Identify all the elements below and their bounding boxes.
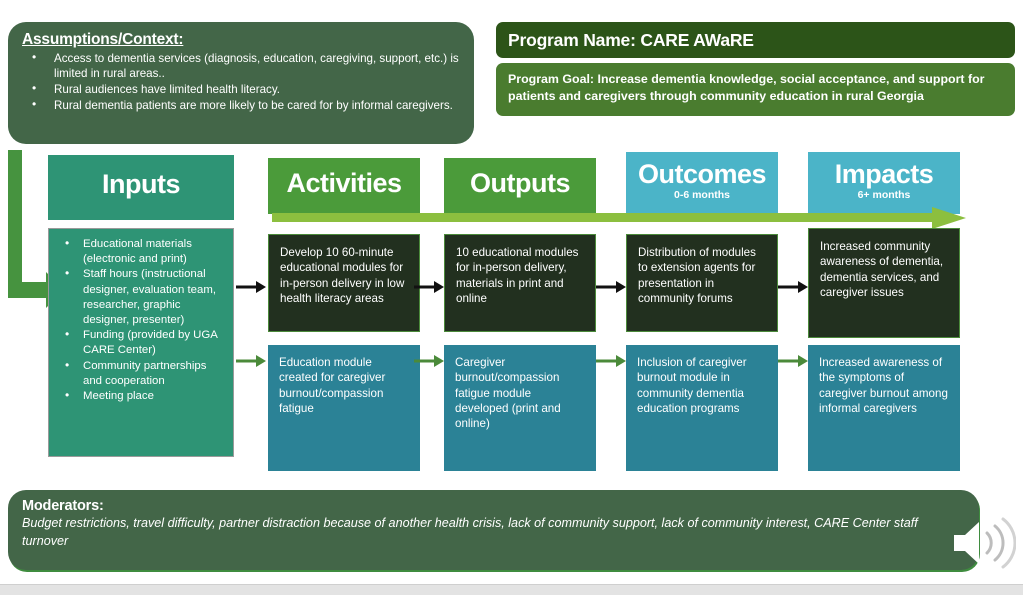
column-header-outputs: Outputs: [444, 158, 596, 214]
list-item: Access to dementia services (diagnosis, …: [22, 51, 460, 82]
outcomes-main-cell: Distribution of modules to extension age…: [626, 234, 778, 332]
connector-arrow-icon: [778, 353, 808, 369]
connector-arrow-icon: [414, 279, 444, 295]
list-item: Educational materials (electronic and pr…: [57, 237, 225, 267]
list-item: Rural audiences have limited health lite…: [22, 82, 460, 97]
assumptions-title: Assumptions/Context:: [22, 31, 460, 49]
outputs-caregiver-cell: Caregiver burnout/compassion fatigue mod…: [444, 345, 596, 471]
column-header-activities: Activities: [268, 158, 420, 214]
outputs-main-cell: 10 educational modules for in-person del…: [444, 234, 596, 332]
bottom-strip: [0, 584, 1023, 595]
speaker-audio-icon[interactable]: [950, 515, 1016, 571]
column-title: Impacts: [808, 159, 960, 189]
moderators-panel: Moderators: Budget restrictions, travel …: [8, 490, 979, 570]
impacts-caregiver-cell: Increased awareness of the symptoms of c…: [808, 345, 960, 471]
moderators-title: Moderators:: [22, 498, 919, 514]
connector-arrow-icon: [236, 353, 266, 369]
connector-arrow-icon: [596, 353, 626, 369]
column-title: Inputs: [48, 169, 234, 199]
activities-caregiver-cell: Education module created for caregiver b…: [268, 345, 420, 471]
list-item: Community partnerships and cooperation: [57, 359, 225, 389]
column-subtitle: 0-6 months: [626, 189, 778, 201]
column-header-inputs: Inputs: [48, 155, 234, 220]
column-title: Outcomes: [626, 159, 778, 189]
assumptions-list: Access to dementia services (diagnosis, …: [22, 51, 460, 114]
moderators-text: Budget restrictions, travel difficulty, …: [22, 515, 919, 550]
column-title: Outputs: [444, 168, 596, 198]
outcomes-caregiver-cell: Inclusion of caregiver burnout module in…: [626, 345, 778, 471]
column-header-outcomes: Outcomes 0-6 months: [626, 152, 778, 214]
column-title: Activities: [268, 168, 420, 198]
list-item: Funding (provided by UGA CARE Center): [57, 328, 225, 358]
connector-arrow-icon: [414, 353, 444, 369]
impacts-main-cell: Increased community awareness of dementi…: [808, 228, 960, 338]
logic-model-slide: Assumptions/Context: Access to dementia …: [0, 0, 1023, 595]
connector-arrow-icon: [596, 279, 626, 295]
list-item: Staff hours (instructional designer, eva…: [57, 267, 225, 328]
right-arrow-icon: [272, 207, 966, 229]
program-goal-banner: Program Goal: Increase dementia knowledg…: [496, 63, 1015, 116]
activities-main-cell: Develop 10 60-minute educational modules…: [268, 234, 420, 332]
list-item: Rural dementia patients are more likely …: [22, 98, 460, 113]
column-header-impacts: Impacts 6+ months: [808, 152, 960, 214]
inputs-content-box: Educational materials (electronic and pr…: [48, 228, 234, 457]
connector-arrow-icon: [236, 279, 266, 295]
program-name-banner: Program Name: CARE AWaRE: [496, 22, 1015, 58]
list-item: Meeting place: [57, 389, 225, 404]
inputs-list: Educational materials (electronic and pr…: [57, 237, 225, 404]
assumptions-context-panel: Assumptions/Context: Access to dementia …: [8, 22, 474, 144]
column-subtitle: 6+ months: [808, 189, 960, 201]
connector-arrow-icon: [778, 279, 808, 295]
